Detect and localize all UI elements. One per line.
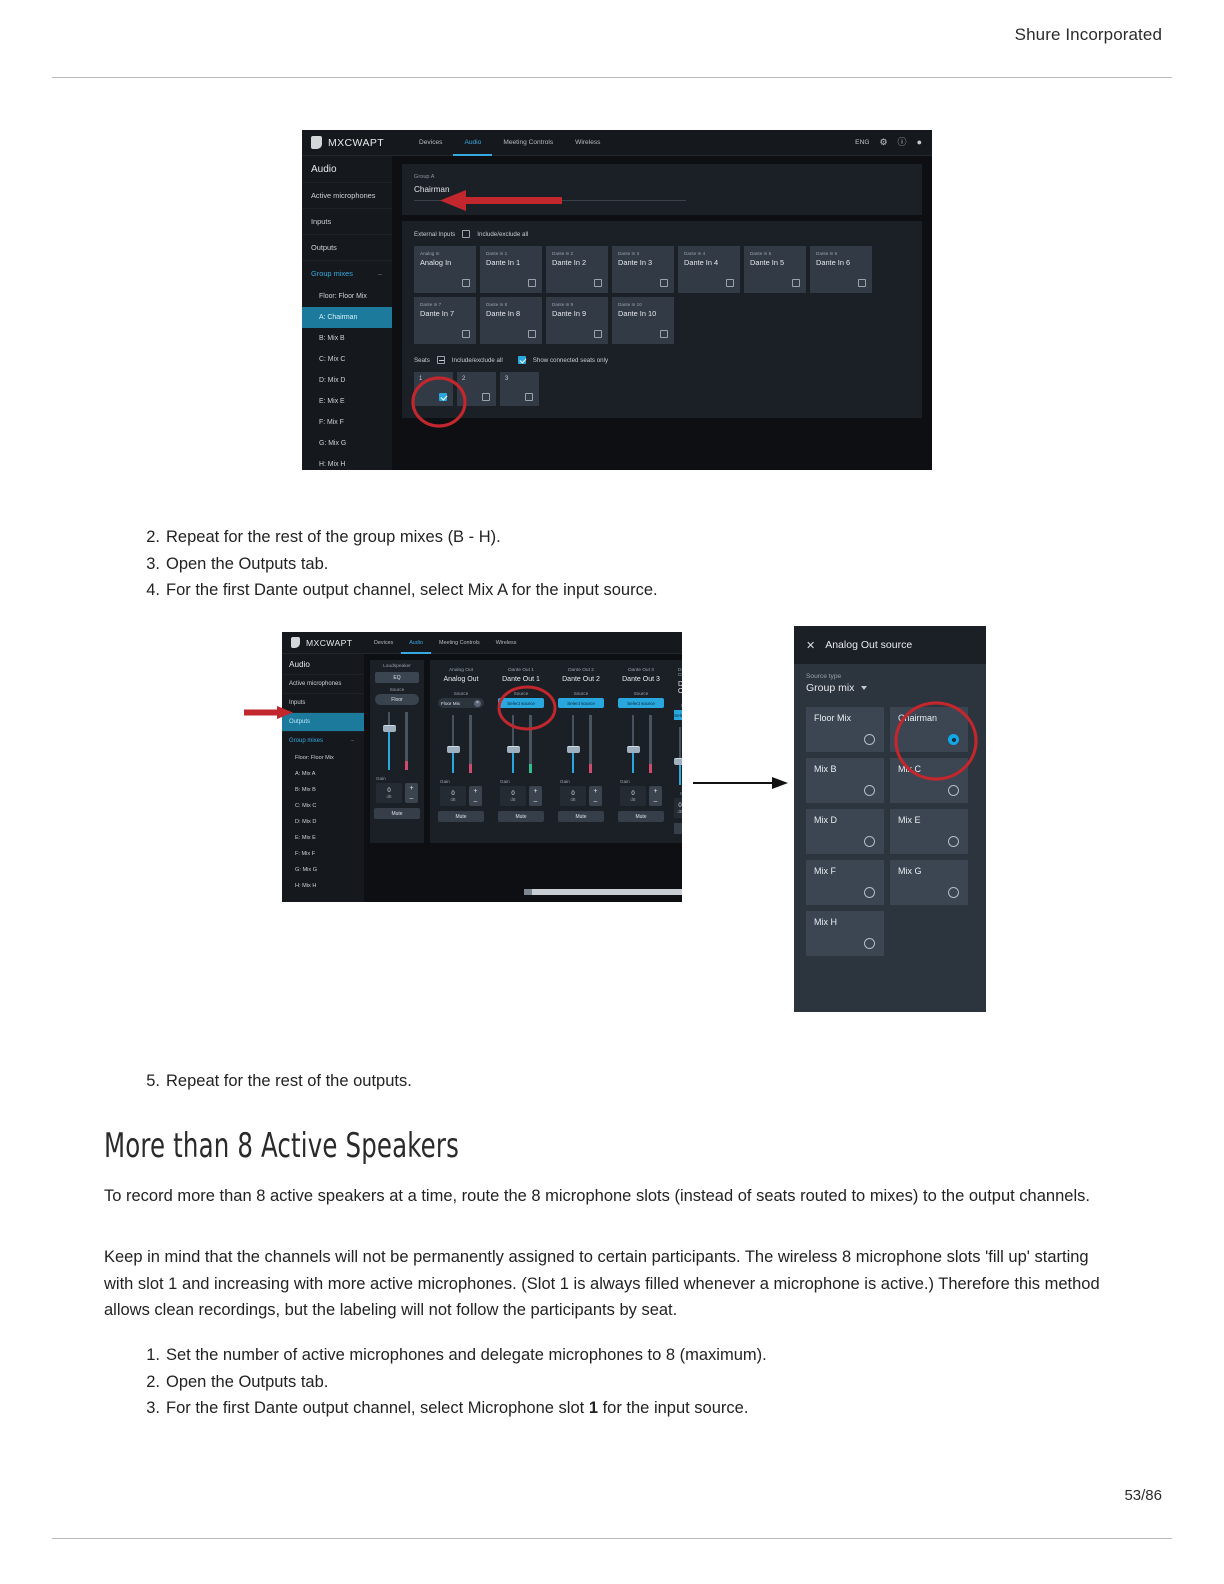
level-meter (401, 710, 412, 772)
gain-value-box[interactable]: 0 dB (560, 786, 586, 806)
clear-source-icon[interactable]: × (474, 700, 481, 707)
input-caption: Dante In 5 (750, 251, 800, 256)
source-option[interactable]: Mix C (890, 758, 968, 803)
channel-faders (567, 713, 596, 775)
input-name: Dante In 3 (618, 258, 668, 267)
select-source-button[interactable]: Select source (674, 710, 682, 720)
channel-faders (507, 713, 536, 775)
channel-faders (674, 725, 682, 787)
input-name: Dante In 6 (816, 258, 866, 267)
output-channel-strip: Dante Out 1 Dante Out 1 Source Select so… (494, 664, 548, 839)
input-card[interactable]: Dante In 10 Dante In 10 (612, 297, 674, 344)
gain-stepper[interactable]: + – (405, 783, 418, 803)
seat-checkbox[interactable] (439, 393, 447, 401)
steps-mic-slots: 1. Set the number of active microphones … (138, 1342, 998, 1422)
source-option-label: Mix F (814, 866, 884, 876)
screenshot-group-mixes: MXCWAPT Devices Audio Meeting Controls W… (302, 130, 932, 470)
list-number: 1. (138, 1342, 160, 1369)
close-icon[interactable]: ✕ (806, 639, 815, 652)
group-name-input[interactable]: Chairman (414, 185, 686, 201)
channel-faders (447, 713, 476, 775)
input-card[interactable]: Dante In 8 Dante In 8 (480, 297, 542, 344)
steps-repeat: 5. Repeat for the rest of the outputs. (138, 1068, 938, 1095)
sidebar-subitem-mix-h[interactable]: H: Mix H (302, 454, 392, 470)
loudspeaker-title: Loudspeaker (383, 664, 411, 669)
input-caption: Dante In 9 (552, 302, 602, 307)
seats-include-exclude-checkbox[interactable] (437, 356, 445, 364)
app-topbar: MXCWAPT Devices Audio Meeting Controls W… (282, 632, 682, 654)
gear-icon[interactable]: ⚙ (879, 138, 887, 147)
seat-number: 1 (419, 376, 453, 382)
app-brand: MXCWAPT (302, 136, 408, 149)
group-name-panel: Group A Chairman (402, 164, 922, 215)
volume-fader[interactable] (447, 713, 460, 775)
sidebar-subitem-mix-d[interactable]: D: Mix D (282, 814, 364, 830)
volume-fader[interactable] (627, 713, 640, 775)
select-source-button[interactable]: Select source (618, 698, 664, 708)
input-name: Dante In 4 (684, 258, 734, 267)
channel-source-chip[interactable]: Floor Mix × (438, 698, 484, 708)
seat-card[interactable]: 1 (414, 372, 453, 406)
sidebar-subitem-mix-e[interactable]: E: Mix E (282, 830, 364, 846)
source-option-label: Mix E (898, 815, 968, 825)
list-text: Set the number of active microphones and… (166, 1346, 767, 1364)
show-connected-seats-label: Show connected seats only (533, 357, 608, 364)
seat-number: 3 (505, 376, 539, 382)
list-number: 5. (138, 1068, 160, 1095)
sidebar-item-active-microphones[interactable]: Active microphones (282, 674, 364, 693)
level-meter (525, 713, 536, 775)
channel-gain-label: Gain (680, 791, 682, 796)
mute-button[interactable]: Mute (674, 823, 682, 834)
brand-name: MXCWAPT (328, 137, 384, 149)
channel-gain-row: 0 dB +– (560, 786, 602, 806)
sidebar-subitem-mix-d[interactable]: D: Mix D (302, 370, 392, 391)
gain-increase-button[interactable]: + (409, 785, 413, 792)
input-name: Analog In (420, 258, 470, 267)
sidebar-subitem-mix-a[interactable]: A: Mix A (282, 766, 364, 782)
gain-value-box[interactable]: 0 dB (620, 786, 646, 806)
seat-checkbox[interactable] (525, 393, 533, 401)
top-navigation: Devices Audio Meeting Controls Wireless (408, 130, 611, 156)
gain-unit: dB (570, 797, 575, 802)
seats-header: Seats Include/exclude all Show connected… (414, 356, 910, 364)
level-meter (465, 713, 476, 775)
show-connected-seats-checkbox[interactable] (518, 356, 526, 364)
input-name: Dante In 8 (486, 309, 536, 318)
seats-grid: 1 2 3 (414, 372, 910, 406)
input-checkbox[interactable] (462, 330, 470, 338)
list-text: For the first Dante output channel, sele… (166, 1399, 589, 1417)
channel-gain-label: Gain (620, 779, 630, 784)
input-card[interactable]: Dante In 4 Dante In 4 (678, 246, 740, 293)
list-text: Open the Outputs tab. (166, 1373, 328, 1391)
gain-value-box[interactable]: 0 dB (500, 786, 526, 806)
group-caption: Group A (414, 174, 910, 180)
sidebar-heading: Audio (302, 156, 392, 182)
annotation-arrow-to-dialog (693, 773, 789, 793)
list-text: Repeat for the rest of the group mixes (… (166, 528, 501, 546)
list-item: 5. Repeat for the rest of the outputs. (138, 1068, 938, 1095)
page-header: Shure Incorporated (0, 0, 1224, 78)
nav-audio[interactable]: Audio (401, 632, 431, 654)
input-checkbox[interactable] (528, 279, 536, 287)
source-option-radio[interactable] (948, 836, 959, 847)
list-number: 3. (138, 1395, 160, 1422)
source-option-radio[interactable] (864, 734, 875, 745)
sidebar-subitem-mix-f[interactable]: F: Mix F (302, 412, 392, 433)
source-option-label: Mix G (898, 866, 968, 876)
source-option-label: Mix B (814, 764, 884, 774)
channel-title: Dante Out 1 (508, 668, 534, 673)
sidebar-subitem-mix-b[interactable]: B: Mix B (302, 328, 392, 349)
sidebar-subitem-mix-g[interactable]: G: Mix G (282, 862, 364, 878)
sidebar-subitem-floor[interactable]: Floor: Floor Mix (282, 750, 364, 766)
account-icon[interactable]: ● (917, 138, 922, 147)
sidebar-group-mixes-label: Group mixes (289, 738, 323, 744)
level-meter (645, 713, 656, 775)
gain-stepper[interactable]: +– (649, 786, 662, 806)
select-source-button[interactable]: Select source (558, 698, 604, 708)
input-caption: Dante In 6 (816, 251, 866, 256)
mute-button[interactable]: Mute (618, 811, 664, 822)
input-checkbox[interactable] (594, 330, 602, 338)
nav-devices[interactable]: Devices (366, 632, 401, 654)
main-content: Loudspeaker EQ Source Floor Gain (364, 654, 682, 902)
source-option-radio[interactable] (948, 887, 959, 898)
input-caption: Dante In 1 (486, 251, 536, 256)
seat-card[interactable]: 2 (457, 372, 496, 406)
output-channel-strip: Dante Out 4 Dante Out 4 Source Select so… (674, 664, 682, 839)
source-option[interactable]: Mix E (890, 809, 968, 854)
loudspeaker-gain-label: Gain (376, 776, 386, 781)
source-type-label: Source type (806, 673, 974, 680)
seats-label: Seats (414, 357, 430, 364)
input-caption: Dante In 7 (420, 302, 470, 307)
channel-source-label: Source (681, 703, 682, 708)
top-navigation: Devices Audio Meeting Controls Wireless (366, 632, 524, 656)
input-name: Dante In 10 (618, 309, 668, 318)
seat-card[interactable]: 3 (500, 372, 539, 406)
input-card[interactable]: Analog In Analog In (414, 246, 476, 293)
channel-gain-label: Gain (560, 779, 570, 784)
output-channel-strip: Analog Out Analog Out Source Floor Mix × (434, 664, 488, 839)
gain-unit: dB (677, 809, 682, 814)
source-option[interactable]: Chairman (890, 707, 968, 752)
list-text: Open the Outputs tab. (166, 555, 328, 573)
channel-name: Analog Out (443, 676, 478, 683)
input-caption: Dante In 10 (618, 302, 668, 307)
sidebar-item-outputs[interactable]: Outputs (302, 234, 392, 260)
seats-include-exclude-label: Include/exclude all (452, 357, 503, 364)
list-text: For the first Dante output channel, sele… (166, 581, 658, 599)
gain-stepper[interactable]: +– (529, 786, 542, 806)
channel-name: Dante Out 2 (562, 676, 600, 683)
source-option-radio[interactable] (948, 734, 959, 745)
input-checkbox[interactable] (792, 279, 800, 287)
source-option[interactable]: Mix G (890, 860, 968, 905)
gain-unit: dB (450, 797, 455, 802)
external-inputs-header: External Inputs Include/exclude all (414, 230, 910, 238)
channel-source-label: Source (634, 691, 649, 696)
volume-fader[interactable] (674, 725, 682, 787)
input-name: Dante In 1 (486, 258, 536, 267)
gain-value-box[interactable]: 0 dB (376, 783, 402, 803)
source-option-radio[interactable] (948, 785, 959, 796)
input-checkbox[interactable] (660, 279, 668, 287)
dialog-title: Analog Out source (825, 639, 912, 651)
list-item: 4. For the first Dante output channel, s… (138, 577, 938, 604)
paragraph-keep-in-mind: Keep in mind that the channels will not … (104, 1244, 1104, 1324)
list-number: 2. (138, 524, 160, 551)
list-item: 1. Set the number of active microphones … (138, 1342, 998, 1369)
channel-gain-label: Gain (440, 779, 450, 784)
screenshot-outputs: MXCWAPT Devices Audio Meeting Controls W… (282, 632, 682, 902)
source-option[interactable]: Mix D (806, 809, 884, 854)
sidebar-item-group-mixes[interactable]: Group mixes – (282, 731, 364, 750)
loudspeaker-source-label: Source (390, 687, 405, 692)
source-option-label: Floor Mix (814, 713, 884, 723)
sidebar-subitem-mix-c[interactable]: C: Mix C (282, 798, 364, 814)
channel-source-value: Floor Mix (441, 701, 460, 706)
input-checkbox[interactable] (726, 279, 734, 287)
source-type-value: Group mix (806, 682, 854, 694)
input-name: Dante In 7 (420, 309, 470, 318)
source-option-radio[interactable] (864, 836, 875, 847)
loudspeaker-strip: Loudspeaker EQ Source Floor Gain (370, 660, 424, 843)
input-card[interactable]: Dante In 9 Dante In 9 (546, 297, 608, 344)
include-exclude-all-checkbox[interactable] (462, 230, 470, 238)
header-company-name: Shure Incorporated (1015, 25, 1162, 45)
sidebar-item-inputs[interactable]: Inputs (302, 208, 392, 234)
source-option-label: Chairman (898, 713, 968, 723)
input-name: Dante In 2 (552, 258, 602, 267)
nav-meeting-controls[interactable]: Meeting Controls (431, 632, 488, 654)
nav-meeting-controls[interactable]: Meeting Controls (492, 130, 564, 156)
level-meter (585, 713, 596, 775)
list-text-bold: 1 (589, 1399, 598, 1417)
sidebar-subitem-mix-f[interactable]: F: Mix F (282, 846, 364, 862)
app-topbar: MXCWAPT Devices Audio Meeting Controls W… (302, 130, 932, 156)
seat-checkbox[interactable] (482, 393, 490, 401)
collapse-icon[interactable]: – (378, 269, 382, 278)
channel-faders (627, 713, 656, 775)
include-exclude-all-label: Include/exclude all (477, 231, 528, 238)
channel-name: Dante Out 3 (622, 676, 660, 683)
source-option-radio[interactable] (864, 887, 875, 898)
input-checkbox[interactable] (594, 279, 602, 287)
list-text: Repeat for the rest of the outputs. (166, 1072, 412, 1090)
gain-unit: dB (386, 794, 391, 799)
sidebar-item-inputs[interactable]: Inputs (282, 693, 364, 712)
shure-logo-icon (291, 637, 300, 648)
channel-gain-row: 0 dB +– (440, 786, 482, 806)
input-checkbox[interactable] (660, 330, 668, 338)
channel-title: Dante Out 3 (628, 668, 654, 673)
external-inputs-panel: External Inputs Include/exclude all Anal… (402, 221, 922, 418)
list-item: 2. Open the Outputs tab. (138, 1369, 998, 1396)
source-option-label: Mix D (814, 815, 884, 825)
horizontal-scrollbar[interactable] (524, 889, 682, 895)
app-body: Audio Active microphones Inputs Outputs … (302, 156, 932, 470)
channel-gain-row: 0 dB +– (674, 798, 682, 818)
list-number: 3. (138, 551, 160, 578)
gain-stepper[interactable]: +– (469, 786, 482, 806)
list-item: 3. For the first Dante output channel, s… (138, 1395, 998, 1422)
mute-button[interactable]: Mute (438, 811, 484, 822)
sidebar-subitem-mix-e[interactable]: E: Mix E (302, 391, 392, 412)
loudspeaker-source-value[interactable]: Floor (375, 694, 419, 705)
seat-number: 2 (462, 376, 496, 382)
mute-button[interactable]: Mute (558, 811, 604, 822)
source-option[interactable]: Mix F (806, 860, 884, 905)
input-checkbox[interactable] (528, 330, 536, 338)
source-option[interactable]: Mix B (806, 758, 884, 803)
input-card[interactable]: Dante In 1 Dante In 1 (480, 246, 542, 293)
list-number: 4. (138, 577, 160, 604)
brand-name: MXCWAPT (306, 638, 352, 648)
gain-value-box[interactable]: 0 dB (674, 798, 682, 818)
sidebar-subitem-mix-h[interactable]: H: Mix H (282, 878, 364, 894)
nav-audio[interactable]: Audio (453, 130, 492, 156)
sidebar-item-group-mixes[interactable]: Group mixes – (302, 260, 392, 286)
channel-title: Analog Out (449, 668, 473, 673)
external-inputs-grid: Analog In Analog In Dante In 1 Dante In … (414, 246, 910, 344)
input-card[interactable]: Dante In 6 Dante In 6 (810, 246, 872, 293)
gain-decrease-button[interactable]: – (410, 795, 414, 802)
list-item: 2. Repeat for the rest of the group mixe… (138, 524, 938, 551)
loudspeaker-gain-row: 0 dB + – (376, 783, 418, 803)
channel-gain-label: Gain (500, 779, 510, 784)
list-item: 3. Open the Outputs tab. (138, 551, 938, 578)
topbar-right: ENG ⚙ ⓘ ● (855, 138, 932, 147)
input-caption: Dante In 3 (618, 251, 668, 256)
language-selector[interactable]: ENG (855, 139, 869, 146)
output-channel-strip: Dante Out 3 Dante Out 3 Source Select so… (614, 664, 668, 839)
source-option-radio[interactable] (864, 785, 875, 796)
sidebar-subitem-mix-c[interactable]: C: Mix C (302, 349, 392, 370)
select-source-button[interactable]: Select source (498, 698, 544, 708)
output-channel-strip: Dante Out 2 Dante Out 2 Source Select so… (554, 664, 608, 839)
source-option[interactable]: Floor Mix (806, 707, 884, 752)
section-heading: More than 8 Active Speakers (104, 1126, 459, 1166)
main-content: Group A Chairman External Inputs Include… (392, 156, 932, 470)
shure-logo-icon (311, 136, 322, 149)
header-divider (52, 77, 1172, 78)
collapse-icon[interactable]: – (351, 738, 354, 744)
sidebar-subitem-floor[interactable]: Floor: Floor Mix (302, 286, 392, 307)
list-text-tail: for the input source. (598, 1399, 748, 1417)
external-inputs-label: External Inputs (414, 231, 455, 238)
sidebar-heading: Audio (282, 654, 364, 674)
volume-fader[interactable] (567, 713, 580, 775)
gain-unit: dB (630, 797, 635, 802)
channel-name: Dante Out 4 (678, 681, 682, 695)
gain-stepper[interactable]: +– (589, 786, 602, 806)
eq-button[interactable]: EQ (375, 672, 419, 683)
gain-unit: dB (510, 797, 515, 802)
input-card[interactable]: Dante In 3 Dante In 3 (612, 246, 674, 293)
nav-wireless[interactable]: Wireless (488, 632, 525, 654)
app-brand: MXCWAPT (282, 637, 366, 648)
dialog-header: ✕ Analog Out source (794, 626, 986, 664)
source-options-grid: Floor Mix Chairman Mix B Mix C Mix D Mix… (806, 707, 974, 956)
help-icon[interactable]: ⓘ (898, 138, 907, 147)
input-caption: Dante In 4 (684, 251, 734, 256)
input-caption: Dante In 8 (486, 302, 536, 307)
source-type-dropdown[interactable]: Group mix (806, 682, 974, 694)
input-caption: Analog In (420, 251, 470, 256)
input-name: Dante In 9 (552, 309, 602, 318)
sidebar-group-mixes-label: Group mixes (311, 269, 353, 278)
sidebar: Audio Active microphones Inputs Outputs … (282, 654, 364, 902)
footer-divider (52, 1538, 1172, 1539)
input-card[interactable]: Dante In 5 Dante In 5 (744, 246, 806, 293)
source-option[interactable]: Mix H (806, 911, 884, 956)
channel-gain-row: 0 dB +– (620, 786, 662, 806)
input-name: Dante In 5 (750, 258, 800, 267)
nav-wireless[interactable]: Wireless (564, 130, 611, 156)
gain-value-box[interactable]: 0 dB (440, 786, 466, 806)
volume-fader[interactable] (383, 710, 396, 772)
page-number: 53/86 (1124, 1487, 1162, 1504)
sidebar-subitem-mix-b[interactable]: B: Mix B (282, 782, 364, 798)
channel-title: Dante Out 2 (568, 668, 594, 673)
dialog-body: Source type Group mix Floor Mix Chairman… (794, 664, 986, 956)
mixer-area: Loudspeaker EQ Source Floor Gain (364, 654, 682, 843)
output-channels: Analog Out Analog Out Source Floor Mix × (430, 660, 682, 843)
channel-source-label: Source (454, 691, 469, 696)
source-dialog: ✕ Analog Out source Source type Group mi… (794, 626, 986, 1012)
mute-button[interactable]: Mute (374, 808, 420, 819)
input-caption: Dante In 2 (552, 251, 602, 256)
nav-devices[interactable]: Devices (408, 130, 453, 156)
source-option-label: Mix C (898, 764, 968, 774)
chevron-down-icon[interactable] (861, 686, 867, 690)
input-checkbox[interactable] (858, 279, 866, 287)
sidebar: Audio Active microphones Inputs Outputs … (302, 156, 392, 470)
steps-group-mixes: 2. Repeat for the rest of the group mixe… (138, 524, 938, 604)
source-option-radio[interactable] (864, 938, 875, 949)
sidebar-subitem-mix-g[interactable]: G: Mix G (302, 433, 392, 454)
channel-source-label: Source (574, 691, 589, 696)
input-card[interactable]: Dante In 7 Dante In 7 (414, 297, 476, 344)
channel-source-label: Source (514, 691, 529, 696)
channel-gain-row: 0 dB +– (500, 786, 542, 806)
sidebar-subitem-chairman[interactable]: A: Chairman (302, 307, 392, 328)
paragraph-record-more: To record more than 8 active speakers at… (104, 1183, 1104, 1210)
channel-title: Dante Out 4 (678, 668, 682, 678)
loudspeaker-faders (383, 710, 412, 772)
list-number: 2. (138, 1369, 160, 1396)
sidebar-item-active-microphones[interactable]: Active microphones (302, 182, 392, 208)
mute-button[interactable]: Mute (498, 811, 544, 822)
volume-fader[interactable] (507, 713, 520, 775)
sidebar-item-outputs[interactable]: Outputs (282, 712, 364, 731)
input-card[interactable]: Dante In 2 Dante In 2 (546, 246, 608, 293)
input-checkbox[interactable] (462, 279, 470, 287)
app-body: Audio Active microphones Inputs Outputs … (282, 654, 682, 902)
channel-name: Dante Out 1 (502, 676, 540, 683)
source-option-label: Mix H (814, 917, 884, 927)
